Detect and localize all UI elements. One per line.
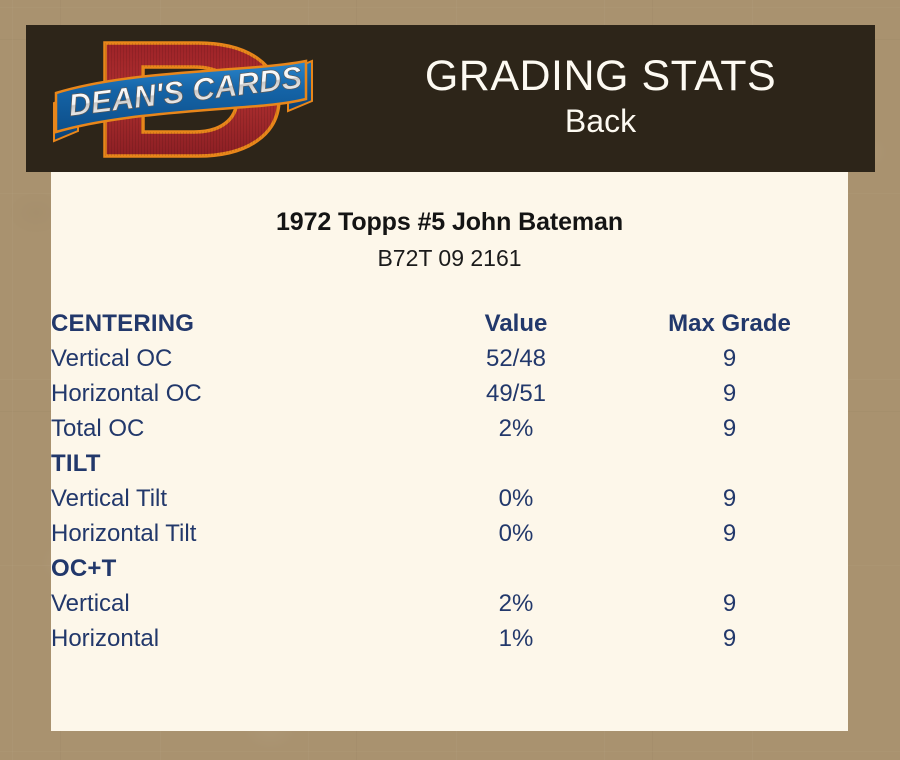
stats-row-value	[421, 551, 611, 586]
stats-row-value: Value	[421, 306, 611, 341]
stats-data-row: Horizontal Tilt0%9	[51, 516, 848, 551]
stats-row-label: OC+T	[51, 551, 421, 586]
stats-row-grade: 9	[611, 411, 848, 446]
content-panel: 1972 Topps #5 John Bateman B72T 09 2161 …	[51, 172, 848, 731]
stats-section-row: TILT	[51, 446, 848, 481]
stats-row-label: Total OC	[51, 411, 421, 446]
stats-data-row: Vertical2%9	[51, 586, 848, 621]
stats-row-grade	[611, 551, 848, 586]
page-subtitle: Back	[565, 101, 636, 143]
stats-row-label: Horizontal Tilt	[51, 516, 421, 551]
stats-data-row: Horizontal OC49/519	[51, 376, 848, 411]
stats-row-grade: 9	[611, 341, 848, 376]
stats-row-label: Horizontal	[51, 621, 421, 656]
stats-row-label: Vertical OC	[51, 341, 421, 376]
stats-data-row: Total OC2%9	[51, 411, 848, 446]
header-titles: GRADING STATS Back	[326, 25, 875, 172]
stats-row-value: 52/48	[421, 341, 611, 376]
stats-row-value: 2%	[421, 411, 611, 446]
stats-row-value: 49/51	[421, 376, 611, 411]
stats-section-row: OC+T	[51, 551, 848, 586]
page-title: GRADING STATS	[425, 54, 776, 100]
stats-row-label: Horizontal OC	[51, 376, 421, 411]
card-name: 1972 Topps #5 John Bateman	[51, 207, 848, 238]
header-bar: DEAN'S CARDS GRADING STATS Back	[26, 25, 875, 172]
stats-row-grade: 9	[611, 481, 848, 516]
deans-cards-logo[interactable]: DEAN'S CARDS	[48, 27, 318, 172]
card-code: B72T 09 2161	[51, 244, 848, 274]
stats-data-row: Vertical Tilt0%9	[51, 481, 848, 516]
grading-stats-body: CENTERINGValueMax GradeVertical OC52/489…	[51, 306, 848, 656]
stats-row-grade: Max Grade	[611, 306, 848, 341]
stats-row-grade	[611, 446, 848, 481]
stats-row-label: CENTERING	[51, 306, 421, 341]
stats-row-label: TILT	[51, 446, 421, 481]
stats-row-grade: 9	[611, 516, 848, 551]
stats-row-value	[421, 446, 611, 481]
stats-section-row: CENTERINGValueMax Grade	[51, 306, 848, 341]
stats-row-label: Vertical	[51, 586, 421, 621]
stats-row-value: 0%	[421, 481, 611, 516]
stats-row-label: Vertical Tilt	[51, 481, 421, 516]
stats-row-grade: 9	[611, 586, 848, 621]
card-title-block: 1972 Topps #5 John Bateman B72T 09 2161	[51, 172, 848, 274]
stats-data-row: Vertical OC52/489	[51, 341, 848, 376]
grading-stats-page: DEAN'S CARDS GRADING STATS Back 1972 Top…	[0, 0, 900, 760]
stats-row-value: 0%	[421, 516, 611, 551]
stats-data-row: Horizontal1%9	[51, 621, 848, 656]
stats-row-value: 2%	[421, 586, 611, 621]
stats-row-value: 1%	[421, 621, 611, 656]
grading-stats-table: CENTERINGValueMax GradeVertical OC52/489…	[51, 306, 848, 656]
stats-row-grade: 9	[611, 621, 848, 656]
stats-row-grade: 9	[611, 376, 848, 411]
